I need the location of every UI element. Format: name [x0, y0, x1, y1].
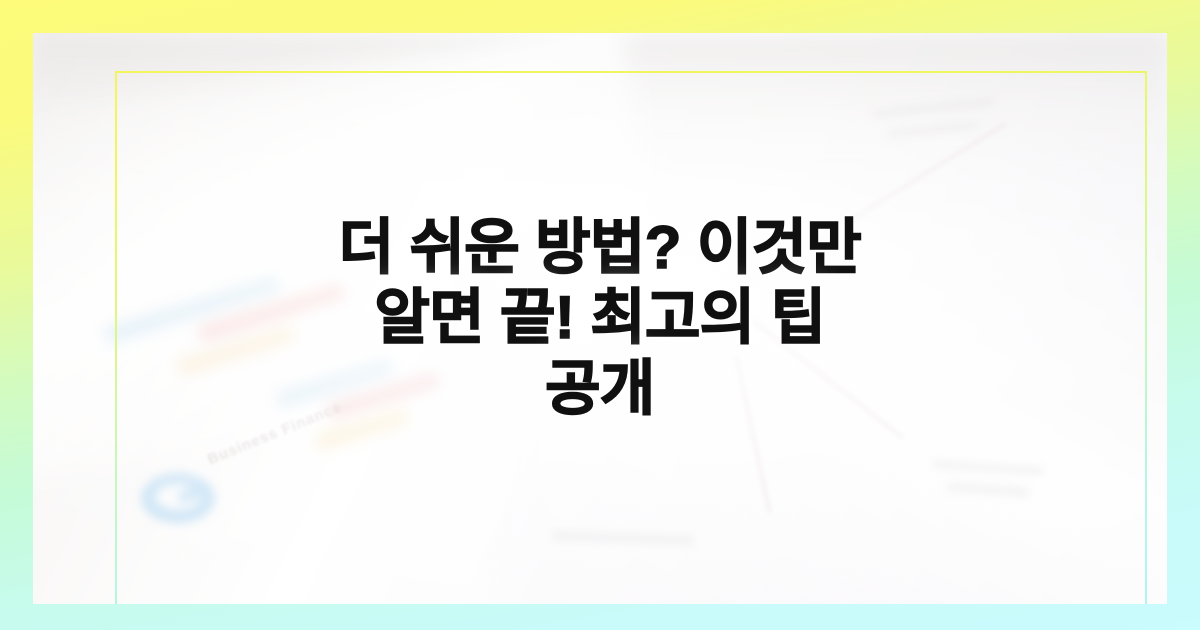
title-card-canvas: Business Finance 더 쉬운 방법? 이것만 알면 끝! 최고의 … — [0, 0, 1200, 630]
headline-container: 더 쉬운 방법? 이것만 알면 끝! 최고의 팁 공개 — [33, 33, 1167, 604]
page-title: 더 쉬운 방법? 이것만 알면 끝! 최고의 팁 공개 — [260, 213, 940, 424]
headline-line-1: 더 쉬운 방법? 이것만 — [260, 213, 940, 283]
headline-line-3: 공개 — [260, 354, 940, 424]
headline-line-2: 알면 끝! 최고의 팁 — [260, 283, 940, 353]
card-surface: Business Finance 더 쉬운 방법? 이것만 알면 끝! 최고의 … — [33, 33, 1167, 604]
